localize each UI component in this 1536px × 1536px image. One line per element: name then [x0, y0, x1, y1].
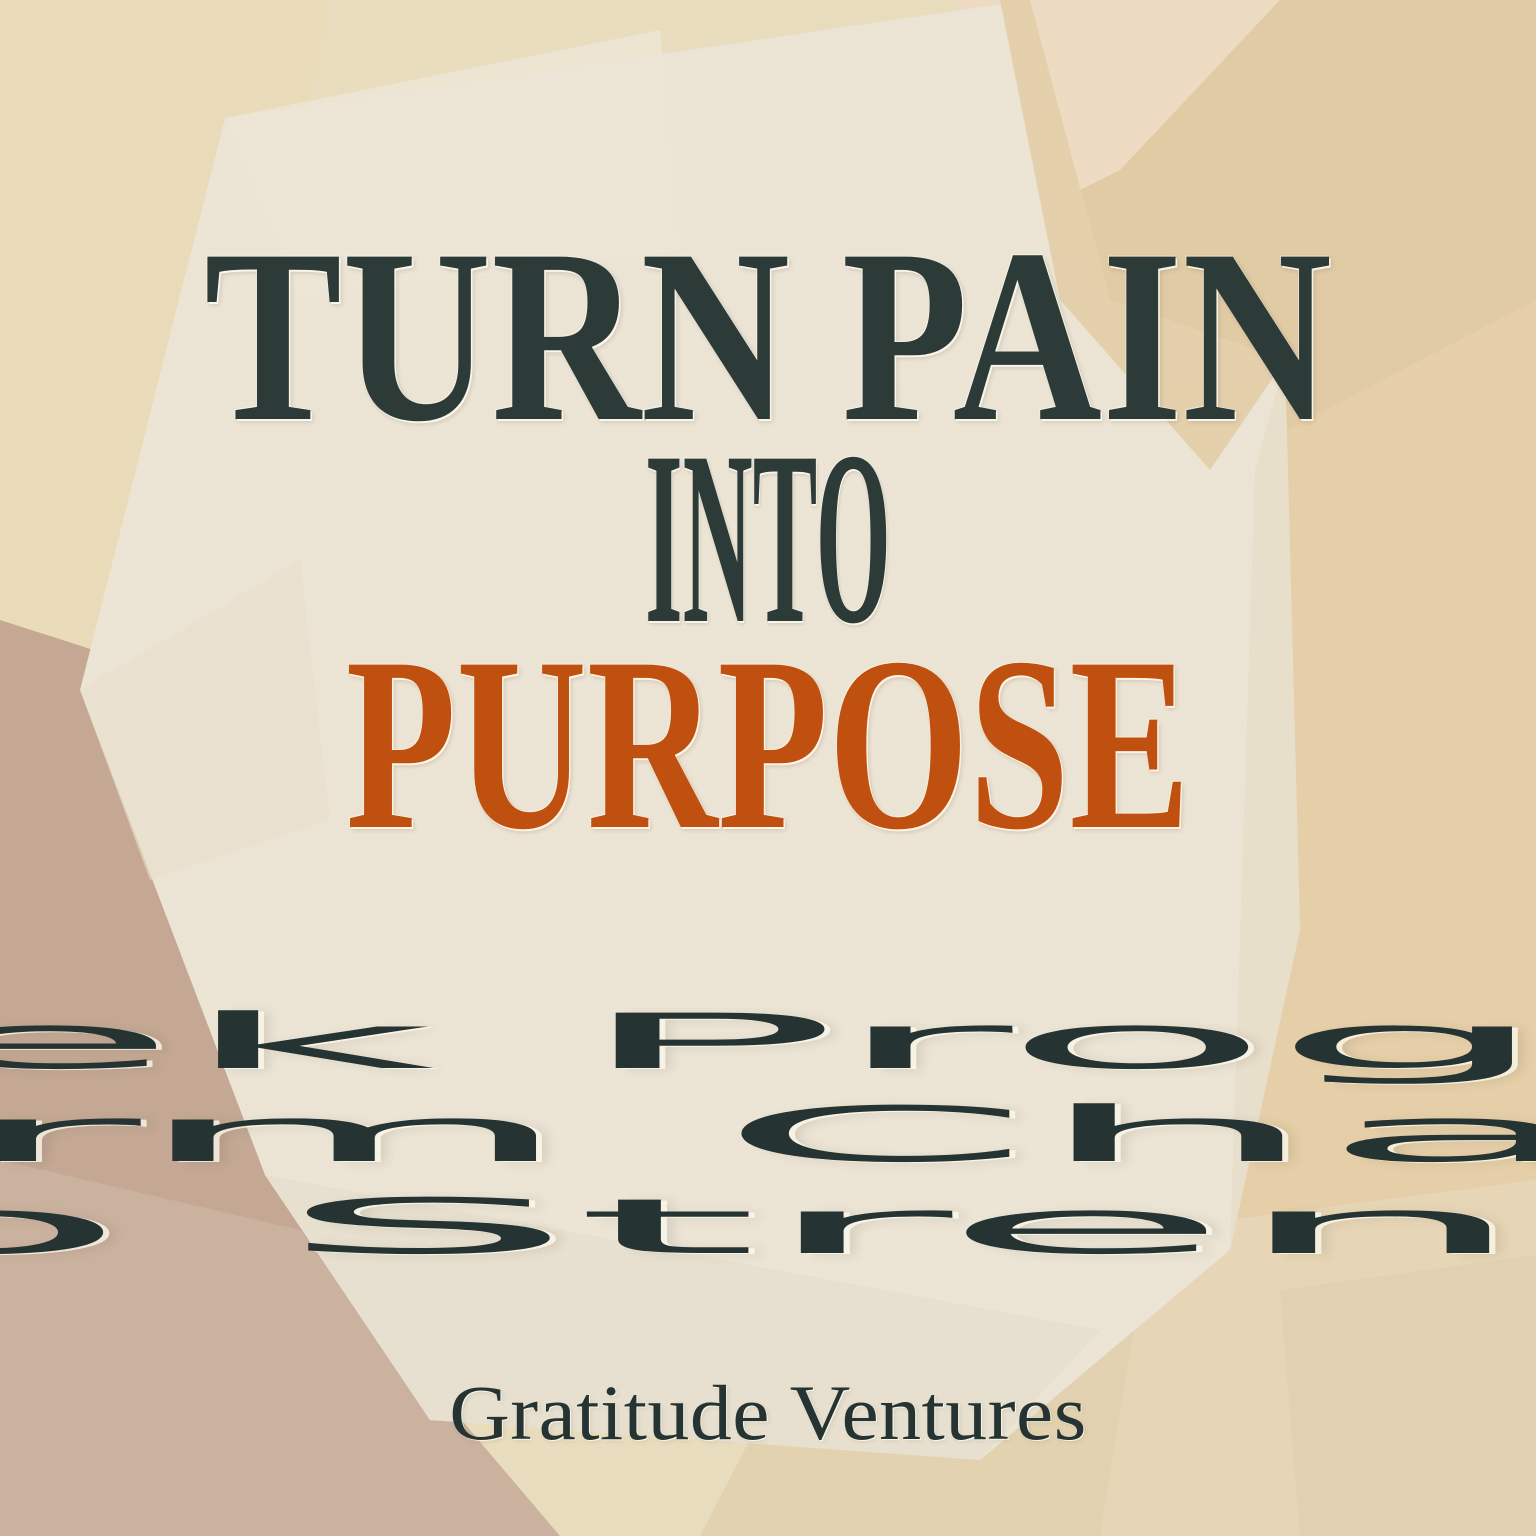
publisher-byline: Gratitude Ventures: [0, 1368, 1536, 1458]
subtitle-line-3: into Strength: [0, 1181, 1536, 1274]
subtitle-block: 12-Week Program to Transform Challenges …: [0, 996, 1536, 1274]
poster-content: TURN PAIN INTO PURPOSE 12-Week Program t…: [0, 0, 1536, 1536]
subtitle-line-2: Transform Challenges: [0, 1089, 1536, 1182]
poster-canvas: TURN PAIN INTO PURPOSE 12-Week Program t…: [0, 0, 1536, 1536]
subtitle-line-1: 12-Week Program to: [0, 996, 1536, 1089]
headline-line-3-accent: PURPOSE: [208, 630, 1328, 858]
headline-block: TURN PAIN INTO PURPOSE: [0, 222, 1536, 858]
